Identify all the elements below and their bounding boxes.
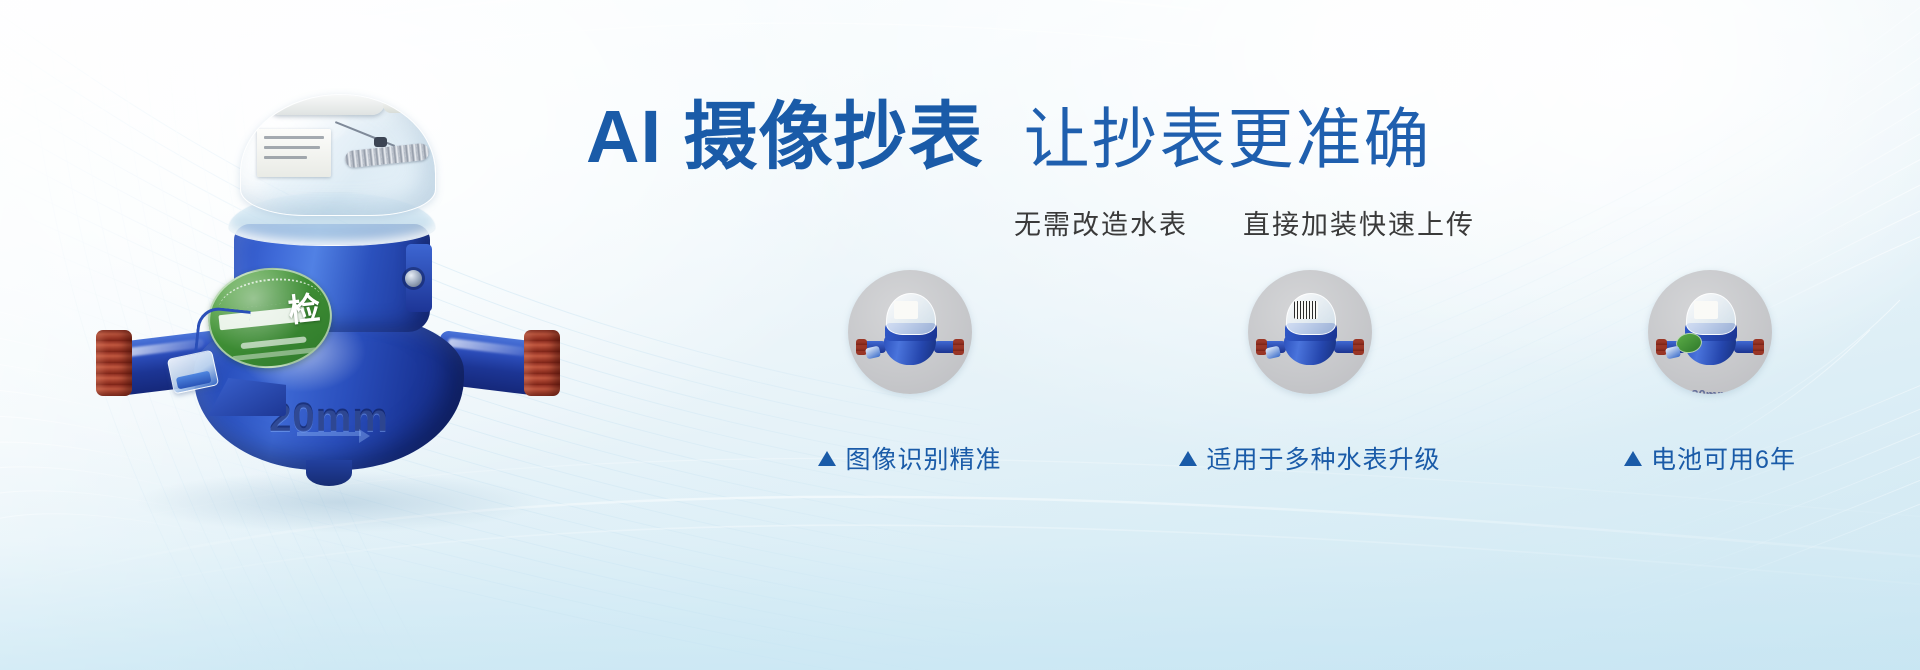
mini-sensor-module <box>1265 346 1281 360</box>
mini-outlet-pipe <box>1334 339 1364 355</box>
feature-caption-text-2: 适用于多种水表升级 <box>1206 440 1440 476</box>
headline: AI 摄像抄表 让抄表更准确 <box>586 100 1432 174</box>
sticker-inspection-char: 检 <box>287 292 322 327</box>
feature-item-2[interactable]: 适用于多种水表升级 <box>1160 270 1460 476</box>
triangle-marker-icon <box>1179 451 1197 466</box>
promo-banner: 20mm 检 <box>0 0 1920 670</box>
product-image-water-meter: 20mm 检 <box>78 72 578 542</box>
feature-item-3[interactable]: 20mm 电池可用6年 <box>1560 270 1860 476</box>
triangle-marker-icon <box>818 451 836 466</box>
mini-meter-illustration <box>858 289 962 375</box>
mini-meter-illustration <box>1258 289 1362 375</box>
mini-size-marking: 20mm <box>1691 387 1729 394</box>
dome-knob <box>383 97 413 113</box>
inlet-pipe-thread <box>96 330 132 396</box>
subtitle-part-1: 无需改造水表 <box>1014 210 1188 240</box>
feature-caption-2: 适用于多种水表升级 <box>1179 440 1440 476</box>
meter-thumb-battery[interactable]: 20mm <box>1648 270 1772 394</box>
mini-meter-dome <box>1686 293 1736 335</box>
flow-direction-arrow-icon <box>297 432 361 436</box>
dome-spring-coil <box>344 143 429 169</box>
meter-thumb-upgrade[interactable] <box>1248 270 1372 394</box>
dome-roller-cylinder <box>267 94 385 115</box>
feature-item-1[interactable]: 图像识别精准 <box>760 270 1060 476</box>
mini-meter-label <box>894 301 918 319</box>
meter-spec-label <box>257 129 331 177</box>
triangle-marker-icon <box>1624 451 1642 466</box>
mini-barcode-label <box>1294 301 1318 319</box>
mini-outlet-pipe <box>934 339 964 355</box>
feature-caption-text-1: 图像识别精准 <box>845 440 1001 476</box>
camera-lens-icon <box>374 137 387 147</box>
mini-meter-dome <box>886 293 936 335</box>
headline-primary: AI 摄像抄表 <box>586 100 984 174</box>
mini-meter-illustration: 20mm <box>1658 289 1762 375</box>
feature-caption-1: 图像识别精准 <box>818 440 1001 476</box>
mini-meter-label <box>1694 301 1718 319</box>
mini-sensor-module <box>1665 346 1681 360</box>
headline-secondary: 让抄表更准确 <box>1024 106 1432 172</box>
sticker-pass-text <box>240 336 306 349</box>
outlet-pipe-thread <box>524 330 560 396</box>
mini-outlet-pipe <box>1734 339 1764 355</box>
meter-transparent-dome <box>240 94 436 216</box>
subtitle-part-2: 直接加装快速上传 <box>1243 210 1475 240</box>
mini-meter-dome <box>1286 293 1336 335</box>
feature-list: 图像识别精准 适用于多种水表升级 <box>760 270 1860 476</box>
feature-caption-text-3: 电池可用6年 <box>1651 440 1796 476</box>
meter-thumb-recognition[interactable] <box>848 270 972 394</box>
mini-sensor-module <box>865 346 881 360</box>
collar-screw-icon <box>405 270 422 287</box>
feature-caption-3: 电池可用6年 <box>1624 440 1796 476</box>
subtitle: 无需改造水表 直接加装快速上传 <box>1014 203 1475 242</box>
